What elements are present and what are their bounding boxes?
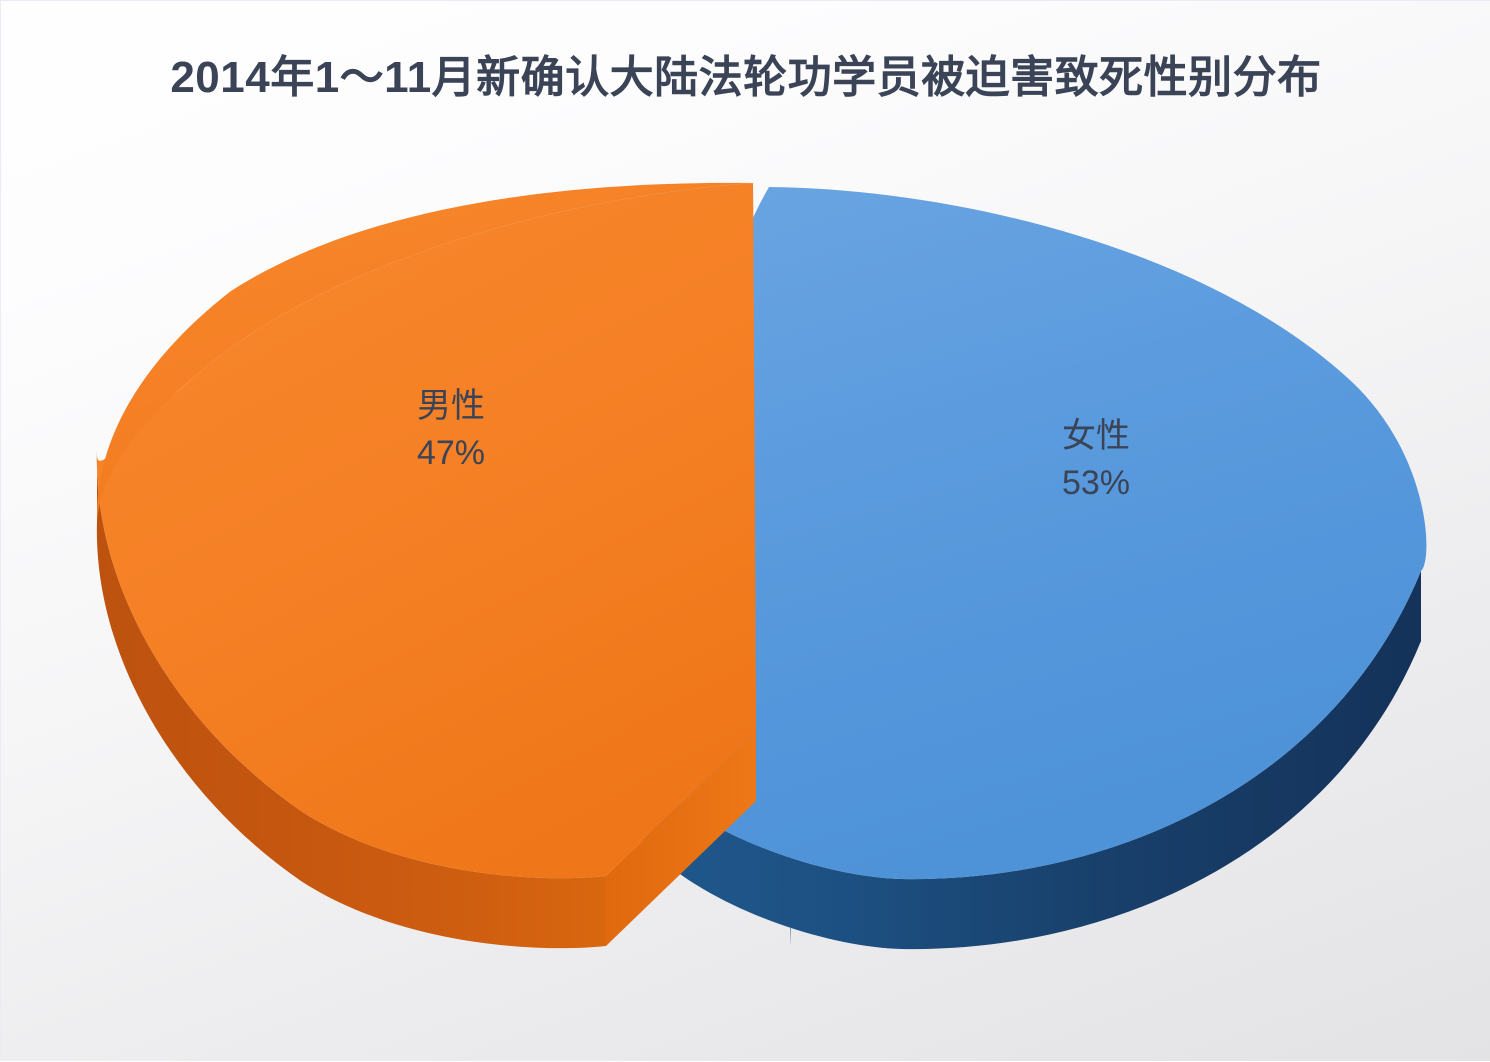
pie-slice-male[interactable] xyxy=(97,183,756,948)
pie-chart-container: 2014年1～11月新确认大陆法轮功学员被迫害致死性别分布 xyxy=(0,0,1490,1061)
pie-chart-graphic xyxy=(1,1,1490,1062)
